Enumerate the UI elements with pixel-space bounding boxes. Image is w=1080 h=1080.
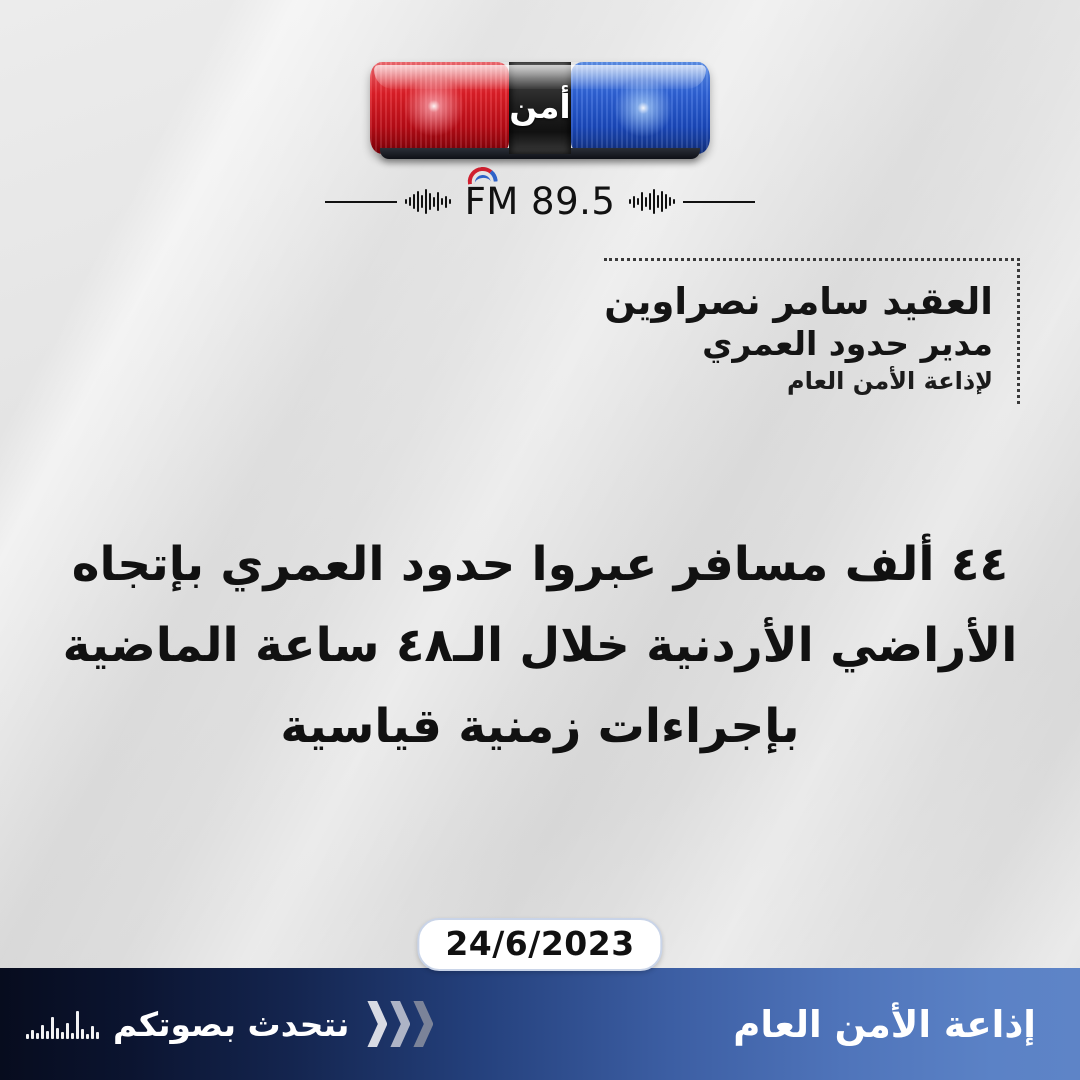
rule-right xyxy=(683,201,755,203)
frequency-label-wrap: FM 89.5 xyxy=(459,180,622,223)
speaker-role: مدير حدود العمري xyxy=(604,324,993,364)
poster-canvas: أمن FM 89.5 xyxy=(0,0,1080,1080)
headline-line-1: ٤٤ ألف مسافر عبروا حدود العمري بإتجاه xyxy=(55,525,1025,606)
headline-line-2: الأراضي الأردنية خلال الـ٤٨ ساعة الماضية xyxy=(55,606,1025,687)
frequency-row: FM 89.5 xyxy=(0,180,1080,223)
date-badge: 24/6/2023 xyxy=(417,918,662,971)
date-text: 24/6/2023 xyxy=(445,924,634,963)
police-lightbar-icon: أمن xyxy=(370,62,710,154)
signal-arc-icon xyxy=(466,165,498,184)
speaker-outlet: لإذاعة الأمن العام xyxy=(604,364,993,397)
speaker-attribution: العقيد سامر نصراوين مدير حدود العمري لإذ… xyxy=(604,258,1020,404)
equalizer-icon xyxy=(26,1009,99,1039)
speaker-name: العقيد سامر نصراوين xyxy=(604,279,993,324)
footer-brand: إذاعة الأمن العام xyxy=(733,1003,1036,1046)
footer-slogan: نتحدث بصوتكم xyxy=(113,1005,349,1044)
lightbar-red-segment xyxy=(370,62,509,154)
lightbar-body: أمن xyxy=(370,62,710,154)
brand-logo: أمن FM 89.5 xyxy=(0,62,1080,242)
chevron-right-icon xyxy=(413,1001,433,1047)
headline-block: ٤٤ ألف مسافر عبروا حدود العمري بإتجاه ال… xyxy=(55,525,1025,767)
waveform-right-icon xyxy=(629,189,675,215)
lightbar-center-panel: أمن xyxy=(509,62,570,154)
footer-bar: نتحدث بصوتكم إذاعة الأمن العام xyxy=(0,968,1080,1080)
waveform-left-icon xyxy=(405,189,451,215)
footer-left-group: نتحدث بصوتكم xyxy=(0,1001,433,1047)
footer-right-group: إذاعة الأمن العام xyxy=(733,1003,1080,1046)
chevron-right-icon xyxy=(367,1001,387,1047)
lightbar-blue-segment xyxy=(571,62,710,154)
logo-wordmark: أمن xyxy=(509,90,570,123)
chevron-right-icon xyxy=(390,1001,410,1047)
headline-line-3: بإجراءات زمنية قياسية xyxy=(55,687,1025,768)
rule-left xyxy=(325,201,397,203)
chevron-arrows-icon xyxy=(367,1001,433,1047)
